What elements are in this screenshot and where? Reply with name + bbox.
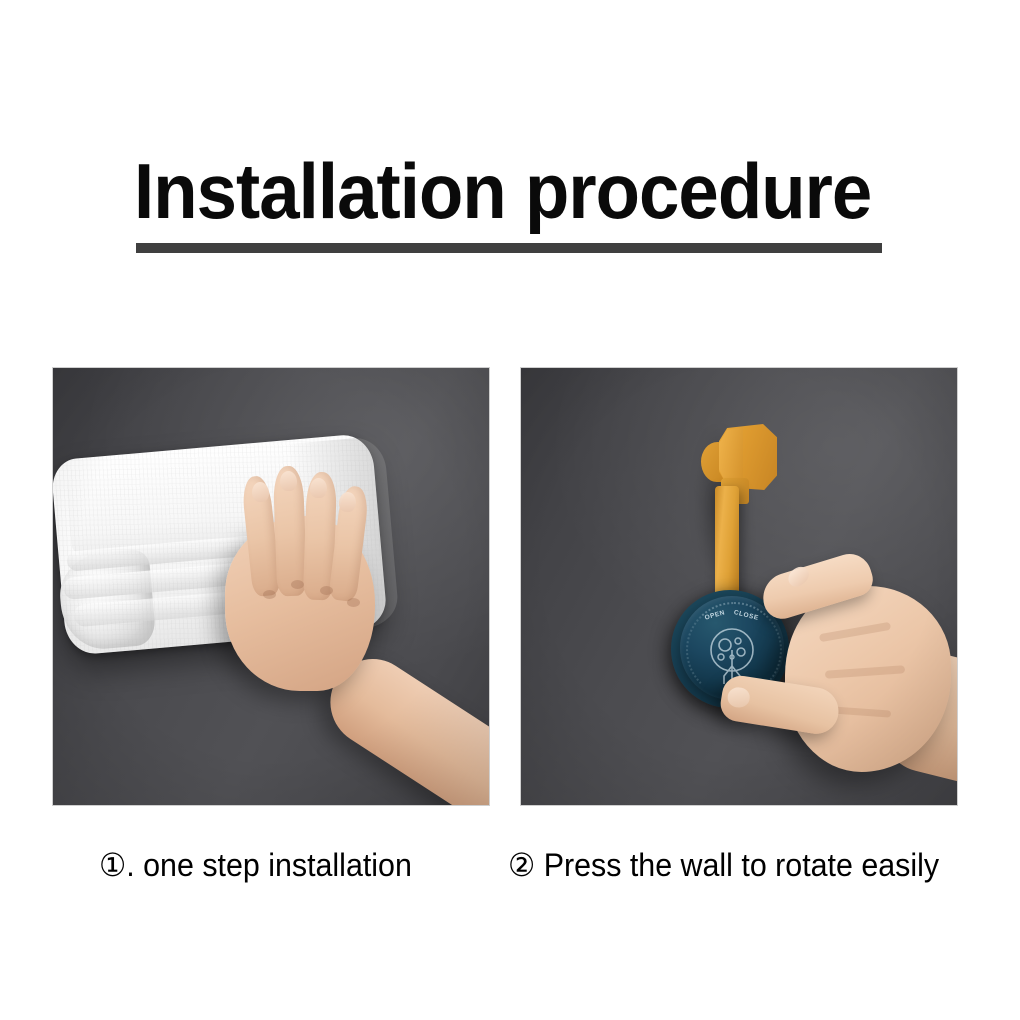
step-1-caption: ①. one step installation (99, 843, 412, 887)
title-underline-rule (136, 243, 882, 253)
photo-vignette (53, 368, 489, 805)
photo-vignette (521, 368, 957, 805)
step-1-photo (52, 367, 490, 806)
step-2-caption: ② Press the wall to rotate easily (508, 843, 939, 887)
page-title: Installation procedure (134, 152, 871, 230)
step-2-photo: OPENCLOSE (520, 367, 958, 806)
